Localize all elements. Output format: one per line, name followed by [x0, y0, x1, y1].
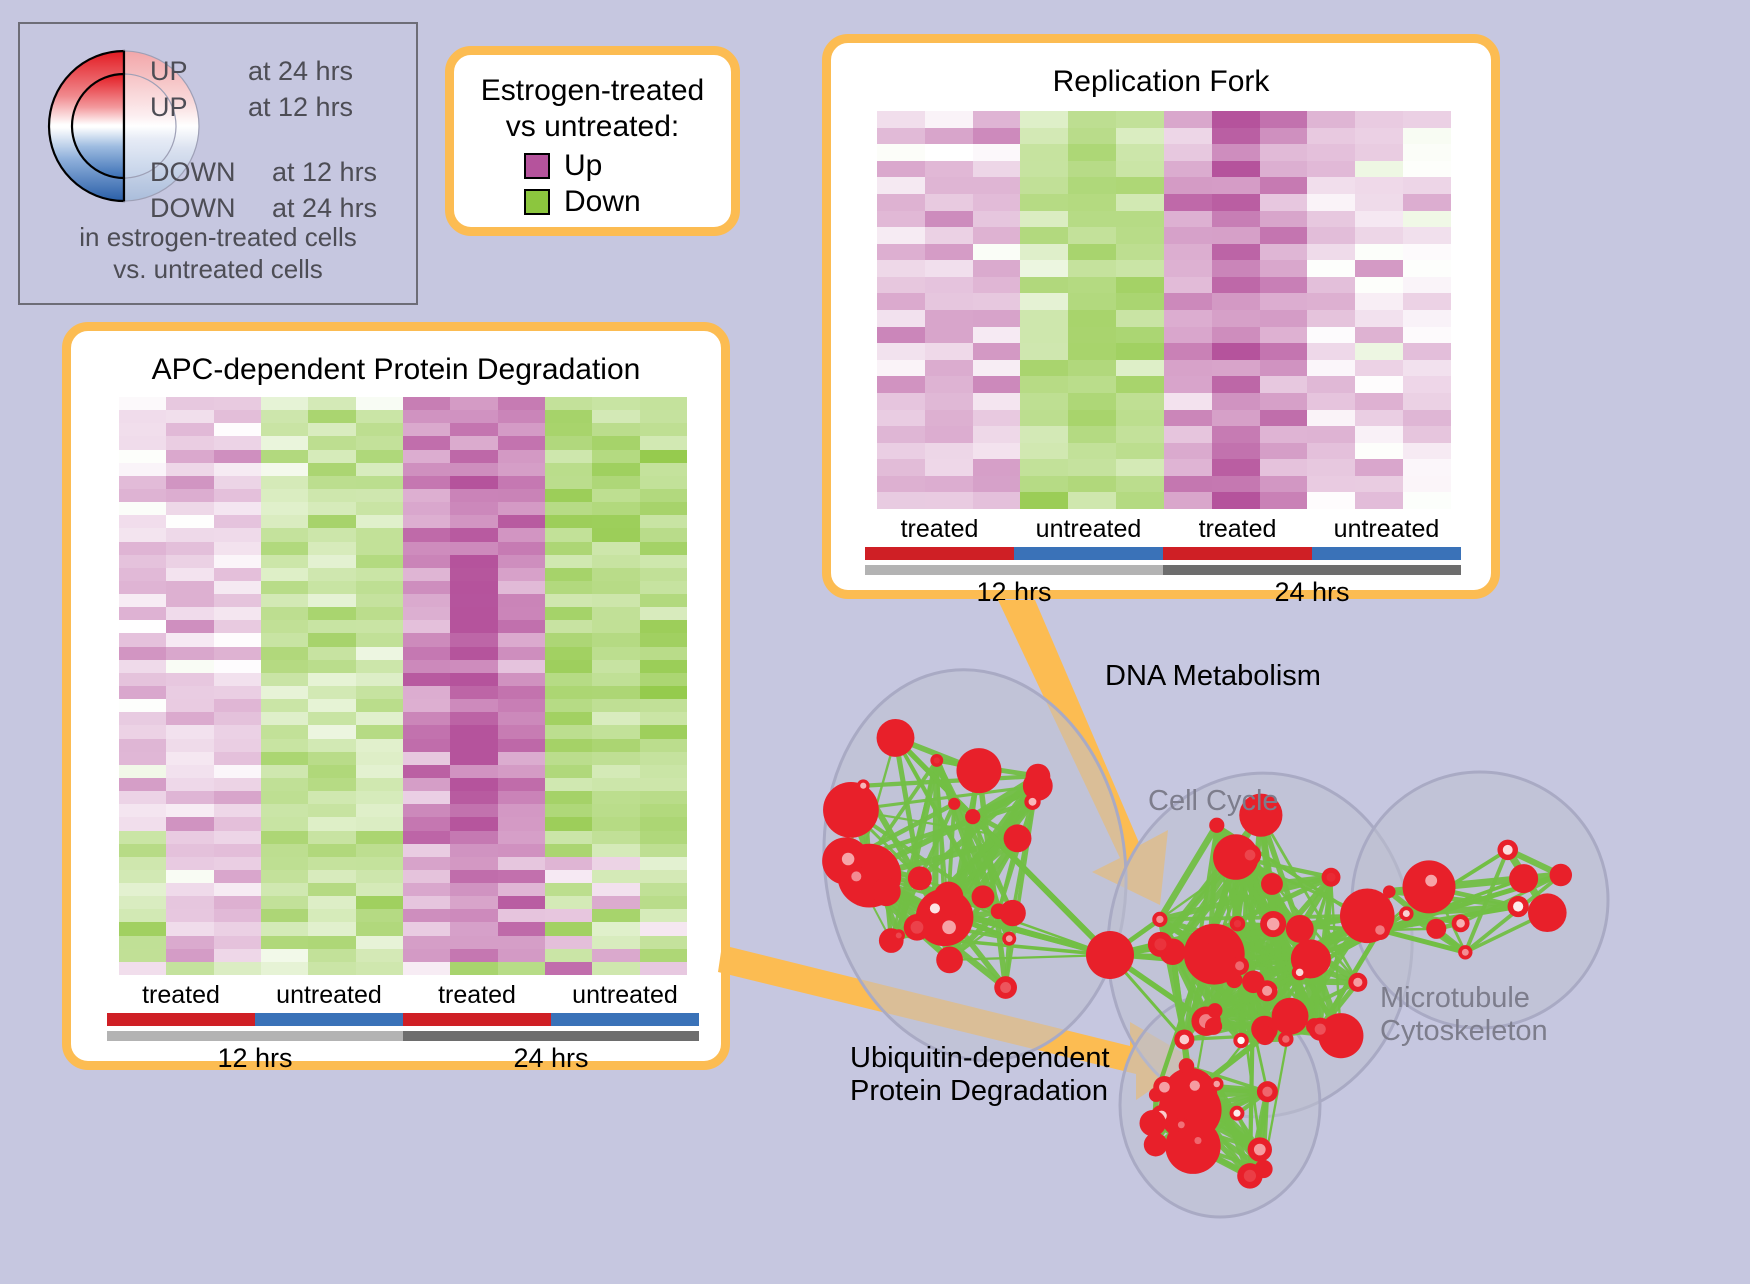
heatmap-cell [1020, 194, 1068, 211]
network-node[interactable] [1210, 1077, 1224, 1091]
network-node[interactable] [994, 976, 1017, 999]
heatmap-cell [973, 211, 1021, 228]
network-node[interactable] [1203, 927, 1221, 945]
heatmap-cell [1307, 211, 1355, 228]
heatmap-cell [166, 936, 213, 949]
heatmap-cell [403, 712, 450, 725]
heatmap-cell [640, 450, 687, 463]
heatmap-cell [592, 568, 639, 581]
heatmap-cell [119, 594, 166, 607]
heatmap-cell [1020, 376, 1068, 393]
heatmap-cell [1068, 327, 1116, 344]
heatmap-cell [1355, 128, 1403, 145]
heatmap-cell [877, 410, 925, 427]
key-label-down-24: DOWN [150, 193, 235, 224]
heatmap-cell [877, 177, 925, 194]
heatmap-cell [1307, 177, 1355, 194]
heatmap-cell [498, 725, 545, 738]
heatmap-cell [1403, 459, 1451, 476]
heatmap-cell [498, 620, 545, 633]
heatmap-cell [403, 423, 450, 436]
timepoint-colorbar-segment [403, 1031, 699, 1041]
heatmap-cell [166, 739, 213, 752]
legend-label-down: Down [564, 187, 641, 217]
heatmap-cell [119, 555, 166, 568]
heatmap-cell [592, 489, 639, 502]
heatmap-cell [1068, 161, 1116, 178]
key-label-down-12: DOWN [150, 157, 235, 188]
network-node[interactable] [930, 754, 943, 767]
heatmap-cell [450, 699, 497, 712]
cluster-label-line2: Cytoskeleton [1380, 1015, 1548, 1048]
heatmap-cell [214, 647, 261, 660]
network-node[interactable] [965, 809, 980, 824]
cluster-label-microtubule-cytoskeleton: Microtubule Cytoskeleton [1380, 982, 1548, 1049]
network-node[interactable] [857, 779, 870, 792]
heatmap-cell [877, 459, 925, 476]
heatmap-cell [166, 397, 213, 410]
network-node[interactable] [1261, 873, 1283, 895]
heatmap-cell [308, 922, 355, 935]
heatmap-cell [925, 476, 973, 493]
heatmap-cell [1164, 476, 1212, 493]
network-node[interactable] [1226, 972, 1242, 988]
network-node[interactable] [823, 782, 879, 838]
heatmap-cell [356, 962, 403, 975]
heatmap-cell [592, 555, 639, 568]
heatmap-cell [308, 712, 355, 725]
heatmap-cell [973, 310, 1021, 327]
network-node[interactable] [893, 929, 905, 941]
heatmap-cell [973, 343, 1021, 360]
heatmap-cell [545, 883, 592, 896]
heatmap-cell [925, 227, 973, 244]
network-node[interactable] [1004, 824, 1032, 852]
network-node[interactable] [1140, 1110, 1166, 1136]
network-node[interactable] [835, 846, 861, 872]
heatmap-cell [450, 752, 497, 765]
network-node[interactable] [1458, 945, 1472, 959]
heatmap-cell [1260, 343, 1308, 360]
heatmap-cell [1260, 194, 1308, 211]
heatmap-cell [640, 673, 687, 686]
network-node[interactable] [1024, 794, 1040, 810]
heatmap-cell [973, 426, 1021, 443]
heatmap-cell [1068, 227, 1116, 244]
heatmap-cell [119, 423, 166, 436]
heatmap-cell [1020, 443, 1068, 460]
heatmap-cell [1355, 293, 1403, 310]
heatmap-cell [1403, 310, 1451, 327]
heatmap-cell [640, 870, 687, 883]
sample-label: untreated [551, 981, 699, 1010]
heatmap-cell [640, 765, 687, 778]
network-node[interactable] [1184, 1075, 1206, 1097]
heatmap-cell [119, 633, 166, 646]
heatmap-cell [214, 844, 261, 857]
heatmap-cell [403, 555, 450, 568]
heatmap-cell [356, 739, 403, 752]
heatmap-cell [214, 555, 261, 568]
heatmap-cell [545, 896, 592, 909]
sample-colorbar-replication-fork [865, 547, 1461, 560]
heatmap-cell [1355, 227, 1403, 244]
heatmap-cell [356, 817, 403, 830]
network-node[interactable] [935, 913, 963, 941]
key-time-up-24: at 24 hrs [248, 56, 353, 87]
network-node[interactable] [1248, 1137, 1272, 1161]
heatmap-cell [214, 765, 261, 778]
heatmap-cell [1164, 211, 1212, 228]
network-node[interactable] [1509, 864, 1538, 893]
network-node[interactable] [1153, 1076, 1175, 1098]
heatmap-cell [308, 686, 355, 699]
heatmap-cell [356, 436, 403, 449]
heatmap-cell [308, 660, 355, 673]
heatmap-cell [498, 857, 545, 870]
heatmap-cell [261, 831, 308, 844]
heatmap-cell [973, 327, 1021, 344]
network-node[interactable] [1148, 932, 1173, 957]
heatmap-cell [640, 568, 687, 581]
network-node[interactable] [1419, 868, 1444, 893]
network-svg [780, 600, 1750, 1279]
heatmap-cell [1260, 393, 1308, 410]
heatmap-cell [403, 909, 450, 922]
network-node[interactable] [1002, 932, 1016, 946]
heatmap-cell [925, 177, 973, 194]
heatmap-cell [261, 922, 308, 935]
network-node[interactable] [1144, 1133, 1168, 1157]
heatmap-cell [356, 673, 403, 686]
heatmap-cell [545, 423, 592, 436]
network-node[interactable] [1497, 840, 1518, 861]
network-node[interactable] [877, 719, 915, 757]
sample-colorbar-segment [255, 1013, 403, 1026]
heatmap-cell [356, 922, 403, 935]
heatmap-cell [498, 489, 545, 502]
heatmap-cell [261, 725, 308, 738]
heatmap-cell [166, 502, 213, 515]
heatmap-cell [1403, 211, 1451, 228]
heatmap-cell [1307, 376, 1355, 393]
heatmap-cell [1116, 111, 1164, 128]
heatmap-cell [119, 568, 166, 581]
network-node[interactable] [1255, 1026, 1274, 1045]
network-node[interactable] [1370, 920, 1390, 940]
heatmap-cell [1307, 426, 1355, 443]
heatmap-cell [1068, 343, 1116, 360]
network-node[interactable] [1260, 911, 1286, 937]
heatmap-cell [592, 463, 639, 476]
heatmap-cell [356, 765, 403, 778]
heatmap-cell [640, 922, 687, 935]
heatmap-cell [261, 463, 308, 476]
heatmap-cell [450, 922, 497, 935]
heatmap-cell [1355, 376, 1403, 393]
heatmap-cell [1212, 128, 1260, 145]
heatmap-cell [592, 896, 639, 909]
heatmap-cell [1307, 260, 1355, 277]
network-node[interactable] [1026, 764, 1051, 789]
network-node[interactable] [1528, 893, 1567, 932]
heatmap-cell [450, 844, 497, 857]
heatmap-cell [1020, 492, 1068, 509]
heatmap-cell [1164, 194, 1212, 211]
heatmap-cell [261, 476, 308, 489]
heatmap-cell [498, 712, 545, 725]
network-node[interactable] [872, 877, 901, 906]
heatmap-cell [1068, 144, 1116, 161]
heatmap-cell [973, 376, 1021, 393]
heatmap-cell [925, 244, 973, 261]
network-node[interactable] [1174, 1118, 1188, 1132]
network-node[interactable] [1426, 919, 1446, 939]
network-node[interactable] [1508, 896, 1529, 917]
heatmap-cell [308, 883, 355, 896]
heatmap-cell [1403, 161, 1451, 178]
network-node[interactable] [948, 798, 960, 810]
heatmap-cell [1212, 111, 1260, 128]
heatmap-cell [166, 528, 213, 541]
network-node[interactable] [999, 900, 1025, 926]
network-node[interactable] [1257, 1081, 1278, 1102]
heatmap-cell [403, 568, 450, 581]
network-node[interactable] [1254, 1160, 1272, 1178]
heatmap-cell [498, 607, 545, 620]
heatmap-cell [545, 725, 592, 738]
network-node[interactable] [1086, 931, 1134, 979]
heatmap-cell [1260, 111, 1308, 128]
heatmap-cell [214, 870, 261, 883]
network-node[interactable] [1209, 818, 1224, 833]
heatmap-cell [1355, 260, 1403, 277]
heatmap-cell [973, 476, 1021, 493]
heatmap-cell [1164, 227, 1212, 244]
heatmap-cell [450, 804, 497, 817]
heatmap-cell [261, 594, 308, 607]
heatmap-cell [1212, 393, 1260, 410]
heatmap-cell [308, 463, 355, 476]
heatmap-cell [877, 244, 925, 261]
heatmap-cell [166, 686, 213, 699]
network-node[interactable] [1550, 864, 1572, 886]
network-node[interactable] [1452, 914, 1470, 932]
heatmap-cell [545, 870, 592, 883]
cluster-label-line2: Protein Degradation [850, 1075, 1110, 1108]
network-node[interactable] [1207, 1003, 1222, 1018]
heatmap-cell [450, 397, 497, 410]
heatmap-cell [450, 791, 497, 804]
network-node[interactable] [1292, 965, 1308, 981]
heatmap-cell [166, 896, 213, 909]
heatmap-cell [973, 128, 1021, 145]
heatmap-cell [403, 896, 450, 909]
heatmap-cell [308, 909, 355, 922]
heatmap-cell [450, 555, 497, 568]
network-node[interactable] [1152, 912, 1167, 927]
network-node[interactable] [1230, 1106, 1245, 1121]
heatmap-cell [925, 144, 973, 161]
network-node[interactable] [1174, 1029, 1194, 1049]
heatmap-cell [498, 962, 545, 975]
heatmap-cell [1212, 410, 1260, 427]
heatmap-cell [1403, 443, 1451, 460]
heatmap-cell [166, 949, 213, 962]
heatmap-cell [119, 949, 166, 962]
network-node[interactable] [904, 914, 931, 941]
heatmap-cell [545, 436, 592, 449]
heatmap-cell [214, 568, 261, 581]
heatmap-cell [403, 936, 450, 949]
heatmap-cell [403, 686, 450, 699]
heatmap-cell [356, 647, 403, 660]
network-node[interactable] [1190, 1133, 1205, 1148]
heatmap-cell [592, 752, 639, 765]
heatmap-cell [498, 423, 545, 436]
heatmap-cell [1355, 459, 1403, 476]
heatmap-cell [640, 804, 687, 817]
heatmap-cell [450, 817, 497, 830]
heatmap-cell [1020, 244, 1068, 261]
heatmap-cell [166, 555, 213, 568]
heatmap-cell [925, 459, 973, 476]
heatmap-cell [403, 647, 450, 660]
heatmap-cell [308, 817, 355, 830]
heatmap-cell [498, 831, 545, 844]
heatmap-cell [1307, 310, 1355, 327]
heatmap-cell [1212, 260, 1260, 277]
heatmap-cell [261, 555, 308, 568]
heatmap-cell [166, 962, 213, 975]
heatmap-cell [1260, 144, 1308, 161]
network-node[interactable] [1179, 1058, 1195, 1074]
heatmap-cell [450, 870, 497, 883]
heatmap-cell [1212, 343, 1260, 360]
heatmap-cell [545, 581, 592, 594]
heatmap-cell [214, 607, 261, 620]
heatmap-cell [119, 397, 166, 410]
heatmap-cell [1116, 393, 1164, 410]
heatmap-cell [1212, 194, 1260, 211]
heatmap-cell [498, 528, 545, 541]
heatmap-cell [545, 673, 592, 686]
heatmap-cell [166, 463, 213, 476]
heatmap-cell [166, 817, 213, 830]
heatmap-cell [1116, 293, 1164, 310]
heatmap-cell [450, 883, 497, 896]
heatmap-cell [450, 528, 497, 541]
heatmap-cell [973, 194, 1021, 211]
network-node[interactable] [908, 866, 932, 890]
network-node[interactable] [1383, 885, 1396, 898]
heatmap-cell [877, 360, 925, 377]
heatmap-cell [1403, 376, 1451, 393]
heatmap-cell [356, 568, 403, 581]
heatmap-cell [214, 528, 261, 541]
heatmap-cell [1403, 244, 1451, 261]
heatmap-cell [498, 633, 545, 646]
network-node[interactable] [936, 947, 963, 974]
heatmap-cell [214, 896, 261, 909]
heatmap-cell [261, 765, 308, 778]
heatmap-cell [592, 515, 639, 528]
network-node[interactable] [1322, 868, 1341, 887]
network-node[interactable] [1399, 906, 1413, 920]
heatmap-cell [450, 647, 497, 660]
heatmap-cell [403, 857, 450, 870]
heatmap-cell [1020, 211, 1068, 228]
heatmap-cell [640, 607, 687, 620]
heatmap-cell [1020, 111, 1068, 128]
network-node[interactable] [1205, 1018, 1222, 1035]
network-node[interactable] [1278, 1031, 1293, 1046]
network-node[interactable] [1309, 1018, 1332, 1041]
heatmap-cell [356, 502, 403, 515]
heatmap-cell [498, 936, 545, 949]
network-node[interactable] [1233, 1033, 1248, 1048]
heatmap-cell [1212, 227, 1260, 244]
heatmap-cell [1164, 310, 1212, 327]
heatmap-cell [119, 909, 166, 922]
heatmap-cell [308, 436, 355, 449]
heatmap-cell [308, 804, 355, 817]
heatmap-cell [119, 922, 166, 935]
network-node[interactable] [1165, 1119, 1220, 1174]
heatmap-cell [498, 844, 545, 857]
panel-title-apc-degradation: APC-dependent Protein Degradation [71, 353, 721, 387]
network-node[interactable] [956, 748, 1001, 793]
heatmap-cell [877, 476, 925, 493]
heatmap-cell [877, 310, 925, 327]
heatmap-cell [450, 962, 497, 975]
network-node[interactable] [1286, 915, 1314, 943]
network-node[interactable] [1348, 973, 1367, 992]
heatmap-cell [261, 804, 308, 817]
heatmap-cell [214, 712, 261, 725]
network-node[interactable] [1242, 971, 1265, 994]
heatmap-cell [1164, 360, 1212, 377]
heatmap-cell [356, 778, 403, 791]
heatmap-cell [356, 463, 403, 476]
heatmap-cell [214, 410, 261, 423]
heatmap-cell [640, 594, 687, 607]
network-node[interactable] [972, 885, 995, 908]
heatmap-cell [545, 410, 592, 423]
heatmap-cell [261, 883, 308, 896]
network-node[interactable] [1239, 844, 1261, 866]
heatmap-cell [356, 870, 403, 883]
panel-title-replication-fork: Replication Fork [831, 65, 1491, 99]
heatmap-cell [1068, 360, 1116, 377]
heatmap-cell [545, 804, 592, 817]
heatmap-cell [592, 423, 639, 436]
heatmap-cell [1020, 277, 1068, 294]
heatmap-cell [925, 492, 973, 509]
heatmap-cell [640, 857, 687, 870]
sample-colorbar-segment [107, 1013, 255, 1026]
heatmap-cell [403, 699, 450, 712]
heatmap-cell [1068, 310, 1116, 327]
heatmap-cell [592, 778, 639, 791]
heatmap-cell [925, 194, 973, 211]
network-node[interactable] [1230, 916, 1245, 931]
heatmap-cell [119, 607, 166, 620]
sample-labels-replication-fork: treated untreated treated untreated [865, 515, 1461, 544]
heatmap-cell [308, 949, 355, 962]
heatmap-cell [119, 804, 166, 817]
heatmap-cell [877, 260, 925, 277]
